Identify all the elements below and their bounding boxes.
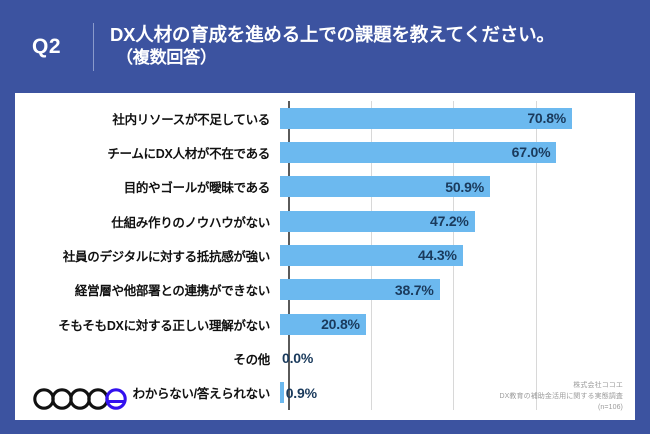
chart-bar-zone: 20.8% — [280, 307, 635, 341]
chart-row: 仕組み作りのノウハウがない47.2% — [15, 204, 635, 238]
chart-row: 社員のデジタルに対する抵抗感が強い44.3% — [15, 238, 635, 272]
chart-category-label: その他 — [15, 349, 280, 368]
header-divider — [93, 23, 94, 71]
header-band: Q2 DX人材の育成を進める上での課題を教えてください。 （複数回答） — [0, 0, 650, 93]
chart-bar-zone: 44.3% — [280, 238, 635, 272]
chart-row: チームにDX人材が不在である67.0% — [15, 135, 635, 169]
chart-bar[interactable]: 47.2% — [280, 211, 475, 232]
chart-bar-value: 44.3% — [418, 247, 457, 263]
chart-bar[interactable]: 38.7% — [280, 279, 440, 300]
page-title: DX人材の育成を進める上での課題を教えてください。 （複数回答） — [110, 23, 565, 70]
chart-bar-value: 47.2% — [430, 213, 469, 229]
chart-bar-zone: 50.9% — [280, 170, 635, 204]
chart-category-label: 目的やゴールが曖昧である — [15, 177, 280, 196]
chart-bar-value: 0.0% — [282, 350, 313, 366]
chart-category-label: 社員のデジタルに対する抵抗感が強い — [15, 246, 280, 265]
chart-row: 経営層や他部署との連携ができない38.7% — [15, 273, 635, 307]
page-title-line1: DX人材の育成を進める上での課題を教えてください。 — [110, 24, 555, 45]
chart-bar-value: 20.8% — [321, 316, 360, 332]
chart-category-label: 社内リソースが不足している — [15, 109, 280, 128]
chart-bar-value: 70.8% — [527, 110, 566, 126]
credit-survey: DX教育の補助金活用に関する実態調査 — [499, 392, 623, 403]
chart-bar-value: 67.0% — [512, 144, 551, 160]
chart-panel: 社内リソースが不足している70.8%チームにDX人材が不在である67.0%目的や… — [15, 93, 635, 420]
chart-bar-value: 0.9% — [286, 385, 317, 401]
chart-bar-value: 38.7% — [395, 282, 434, 298]
chart-bar-zone: 38.7% — [280, 273, 635, 307]
chart-bar[interactable]: 0.9% — [280, 382, 284, 403]
chart-row: そもそもDXに対する正しい理解がない20.8% — [15, 307, 635, 341]
chart-bar-zone: 70.8% — [280, 101, 635, 135]
chart-category-label: 経営層や他部署との連携ができない — [15, 280, 280, 299]
chart-bar[interactable]: 67.0% — [280, 142, 556, 163]
chart-row: その他0.0% — [15, 341, 635, 375]
chart-category-label: そもそもDXに対する正しい理解がない — [15, 315, 280, 334]
credit-sample-size: (n=106) — [499, 403, 623, 414]
chart-bar-zone: 0.0% — [280, 341, 635, 375]
chart-bar[interactable]: 20.8% — [280, 314, 366, 335]
chart-bar-value: 50.9% — [445, 179, 484, 195]
chart-bar[interactable]: 44.3% — [280, 245, 463, 266]
chart-rows: 社内リソースが不足している70.8%チームにDX人材が不在である67.0%目的や… — [15, 101, 635, 410]
chart-category-label: チームにDX人材が不在である — [15, 143, 280, 162]
bar-chart: 社内リソースが不足している70.8%チームにDX人材が不在である67.0%目的や… — [15, 93, 635, 420]
credit-company: 株式会社ココエ — [499, 381, 623, 392]
chart-category-label: 仕組み作りのノウハウがない — [15, 212, 280, 231]
chart-row: 目的やゴールが曖昧である50.9% — [15, 170, 635, 204]
question-number: Q2 — [0, 35, 93, 59]
cocoe-logo — [31, 382, 135, 412]
chart-row: 社内リソースが不足している70.8% — [15, 101, 635, 135]
chart-bar[interactable]: 70.8% — [280, 108, 572, 129]
chart-bar-zone: 47.2% — [280, 204, 635, 238]
chart-bar-zone: 67.0% — [280, 135, 635, 169]
page-title-line2: （複数回答） — [110, 47, 555, 69]
chart-bar[interactable]: 50.9% — [280, 176, 490, 197]
credit-block: 株式会社ココエ DX教育の補助金活用に関する実態調査 (n=106) — [499, 381, 623, 414]
infographic-root: Q2 DX人材の育成を進める上での課題を教えてください。 （複数回答） 社内リソ… — [0, 0, 650, 434]
